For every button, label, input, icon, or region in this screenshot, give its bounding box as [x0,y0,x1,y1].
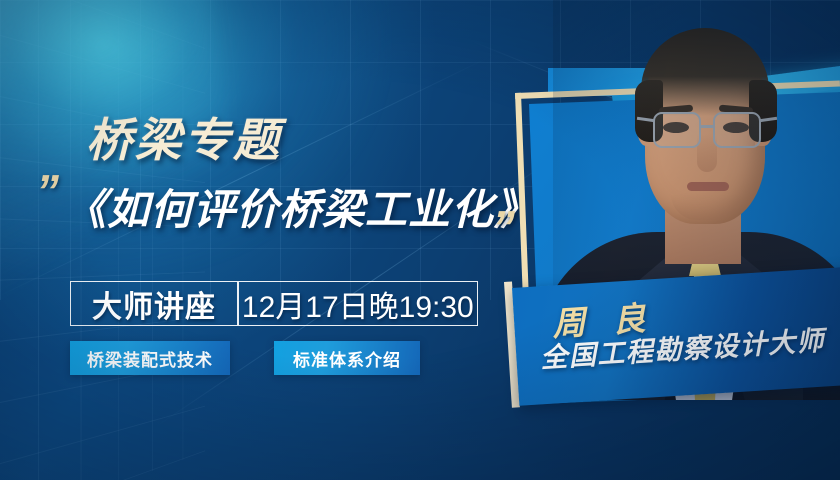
promo-poster: ” 桥梁专题 《如何评价桥梁工业化》 ” 大师讲座 12月17日晚19:30 桥… [0,0,840,480]
vignette-overlay [0,0,840,480]
